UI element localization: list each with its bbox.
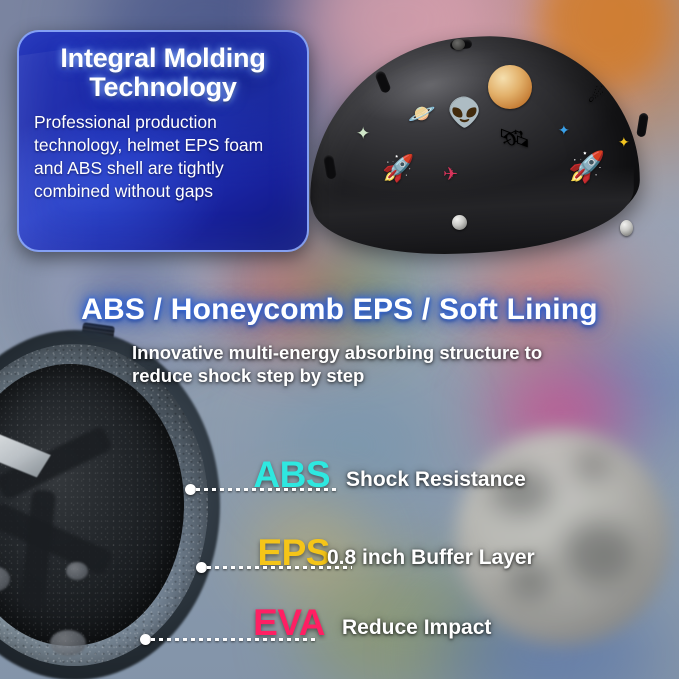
connector-eps-line bbox=[207, 566, 352, 569]
sticker-spark: ✦ bbox=[356, 125, 370, 142]
connector-abs-line bbox=[196, 488, 336, 491]
connector-eva-line bbox=[151, 638, 316, 641]
sticker-rocket-red: 🚀 bbox=[568, 153, 605, 183]
helmet-rivet bbox=[452, 215, 467, 230]
sticker-planet-saturn: 🪐 bbox=[408, 103, 435, 125]
connector-abs-dot bbox=[185, 484, 196, 495]
sticker-satellite: 🛰 bbox=[498, 125, 531, 151]
sticker-planet-mars bbox=[488, 65, 532, 109]
connector-eva-dot bbox=[140, 634, 151, 645]
card-body-text: Professional production technology, helm… bbox=[34, 111, 292, 202]
sticker-shuttle: ✈ bbox=[443, 165, 458, 183]
connector-eva bbox=[140, 634, 320, 646]
helmet-rivet bbox=[452, 39, 465, 50]
product-infographic: ✦ 🪐 👽 ☄ ✦ ✦ 🛰 🚀 ✈ 🚀 Integral Molding Tec… bbox=[0, 0, 679, 679]
helmet-rivet bbox=[620, 220, 633, 236]
sticker-astronaut: 👽 bbox=[447, 99, 482, 127]
interior-pad bbox=[50, 630, 86, 656]
card-title: Integral Molding Technology bbox=[31, 44, 295, 102]
helmet-vent bbox=[636, 112, 649, 137]
interior-pad bbox=[66, 562, 88, 580]
callout-abs-description: Shock Resistance bbox=[346, 469, 526, 490]
connector-abs bbox=[185, 484, 345, 496]
integral-molding-card: Integral Molding Technology Professional… bbox=[17, 30, 309, 252]
connector-eps bbox=[196, 562, 356, 574]
sticker-rocket-pink: 🚀 bbox=[382, 155, 414, 181]
moon-crater bbox=[563, 522, 633, 584]
section-headline: ABS / Honeycomb EPS / Soft Lining bbox=[0, 293, 679, 327]
sticker-star-blue: ✦ bbox=[558, 123, 570, 137]
sticker-star-yellow: ✦ bbox=[618, 135, 630, 149]
section-subheadline: Innovative multi-energy absorbing struct… bbox=[132, 341, 572, 388]
helmet-exterior-photo: ✦ 🪐 👽 ☄ ✦ ✦ 🛰 🚀 ✈ 🚀 bbox=[300, 25, 660, 275]
sticker-comet: ☄ bbox=[588, 87, 604, 105]
connector-eps-dot bbox=[196, 562, 207, 573]
moon-crater bbox=[575, 452, 609, 480]
callout-eva-description: Reduce Impact bbox=[342, 617, 491, 638]
callout-eps-description: 0.8 inch Buffer Layer bbox=[327, 547, 535, 568]
